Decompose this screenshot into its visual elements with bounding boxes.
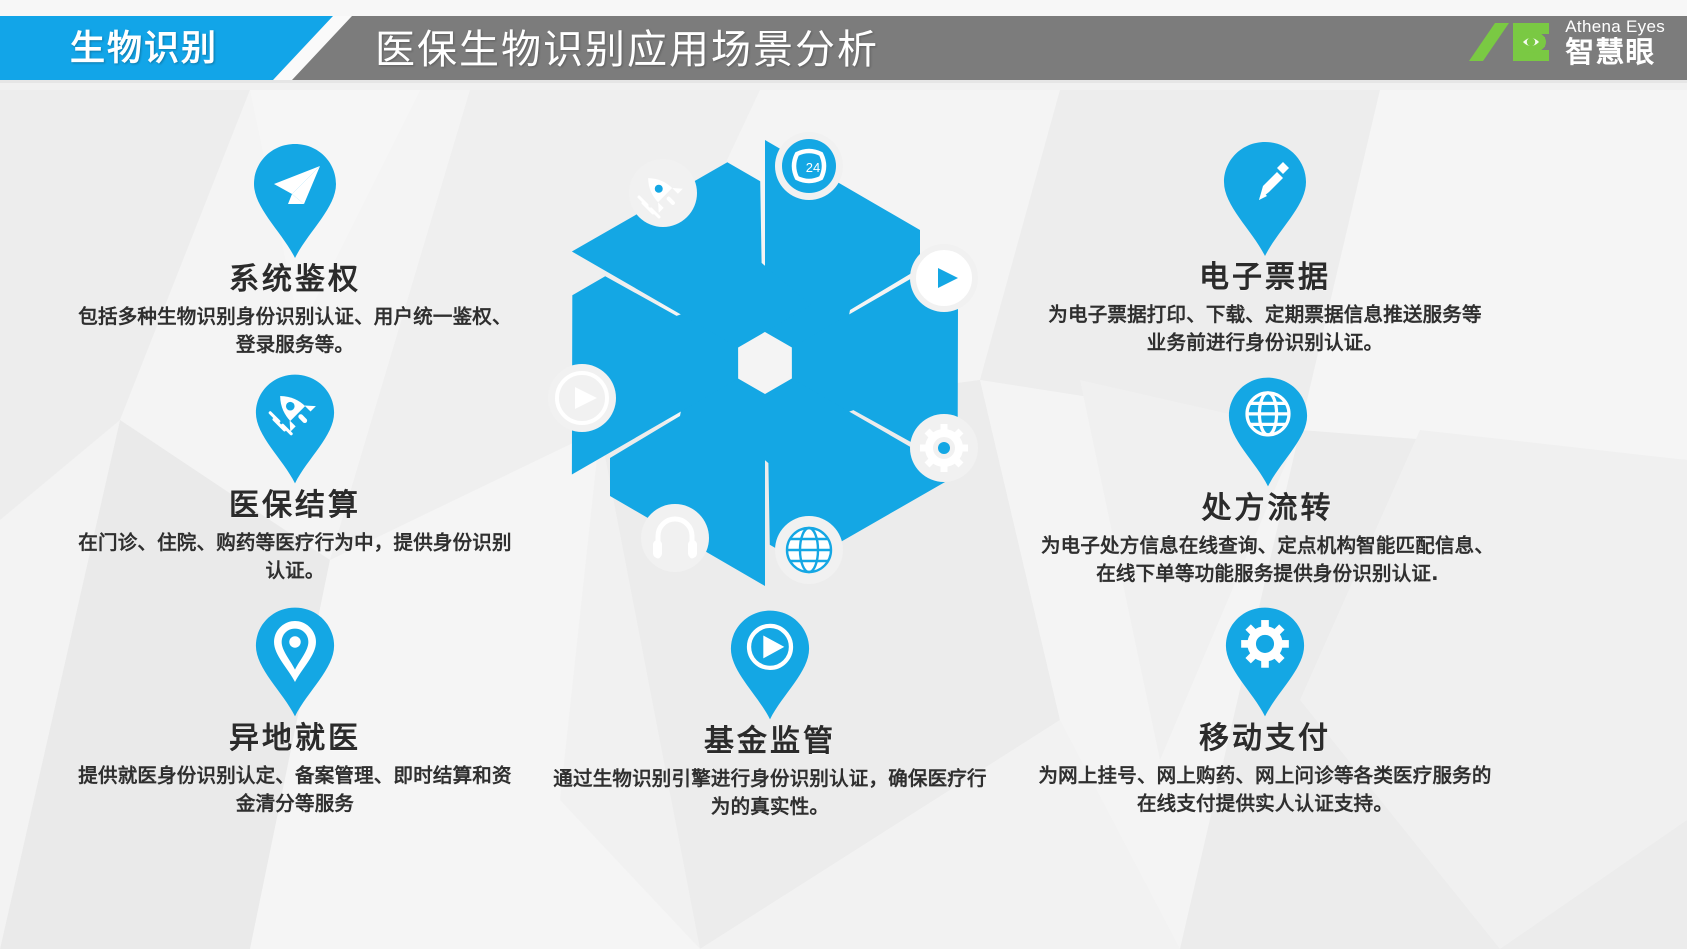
card-system-authorization: 系统鉴权 包括多种生物识别身份识别认证、用户统一鉴权、登录服务等。 [75,142,515,358]
card-description: 为网上挂号、网上购药、网上问诊等各类医疗服务的在线支付提供实人认证支持。 [1035,762,1495,817]
card-title: 医保结算 [75,488,515,524]
logo-name-en: Athena Eyes [1565,18,1665,35]
card-title: 电子票据 [1040,260,1490,296]
card-electronic-invoice: 电子票据 为电子票据打印、下载、定期票据信息推送服务等业务前进行身份识别认证。 [1040,140,1490,356]
cycle-node-rocket [629,159,697,227]
card-description: 提供就医身份识别认定、备案管理、即时结算和资金清分等服务 [70,762,520,817]
slide-header: 生物识别 医保生物识别应用场景分析 Athena Eyes 智慧眼 [0,0,1687,90]
cycle-node-play-left [548,364,616,432]
card-description: 在门诊、住院、购药等医疗行为中，提供身份识别认证。 [75,529,515,584]
cycle-node-gear [910,414,978,482]
card-description: 为电子票据打印、下载、定期票据信息推送服务等业务前进行身份识别认证。 [1040,301,1490,356]
card-prescription-circulation: 处方流转 为电子处方信息在线查询、定点机构智能匹配信息、在线下单等功能服务提供身… [1040,375,1495,587]
paper-plane-icon [252,142,338,260]
card-description: 包括多种生物识别身份识别认证、用户统一鉴权、登录服务等。 [75,303,515,358]
rocket-icon [254,372,336,486]
gear-icon [1224,605,1306,719]
card-title: 移动支付 [1035,721,1495,757]
company-logo: Athena Eyes 智慧眼 [1465,17,1665,67]
card-title: 系统鉴权 [75,262,515,298]
slide-canvas: 生物识别 医保生物识别应用场景分析 Athena Eyes 智慧眼 [0,0,1687,949]
card-description: 为电子处方信息在线查询、定点机构智能匹配信息、在线下单等功能服务提供身份识别认证… [1040,532,1495,587]
cycle-node-play-right [910,244,978,312]
phone-24h-badge-label: 24 [806,160,820,175]
card-offsite-medical-care: 异地就医 提供就医身份识别认定、备案管理、即时结算和资金清分等服务 [70,605,520,817]
card-medical-settlement: 医保结算 在门诊、住院、购药等医疗行为中，提供身份识别认证。 [75,372,515,584]
globe-icon [1227,375,1309,489]
cycle-node-phone-24h: 24 [775,132,843,200]
pencil-icon [1222,140,1308,258]
athena-eyes-ae-mark-icon [1465,17,1557,67]
card-mobile-payment: 移动支付 为网上挂号、网上购药、网上问诊等各类医疗服务的在线支付提供实人认证支持… [1035,605,1495,817]
play-circle-icon [729,608,811,722]
location-pin-icon [254,605,336,719]
card-title: 基金监管 [550,724,990,760]
page-title: 医保生物识别应用场景分析 [375,18,879,74]
card-title: 处方流转 [1040,491,1495,527]
card-description: 通过生物识别引擎进行身份识别认证，确保医疗行为的真实性。 [550,765,990,820]
cycle-blades [520,118,1010,608]
cycle-node-globe [775,516,843,584]
card-fund-supervision: 基金监管 通过生物识别引擎进行身份识别认证，确保医疗行为的真实性。 [550,608,990,820]
header-tag-label: 生物识别 [34,22,254,68]
card-title: 异地就医 [70,721,520,757]
hexagonal-cycle-diagram: 24 [520,118,1010,608]
logo-name-cn: 智慧眼 [1565,38,1665,67]
cycle-node-headphones [641,504,709,572]
